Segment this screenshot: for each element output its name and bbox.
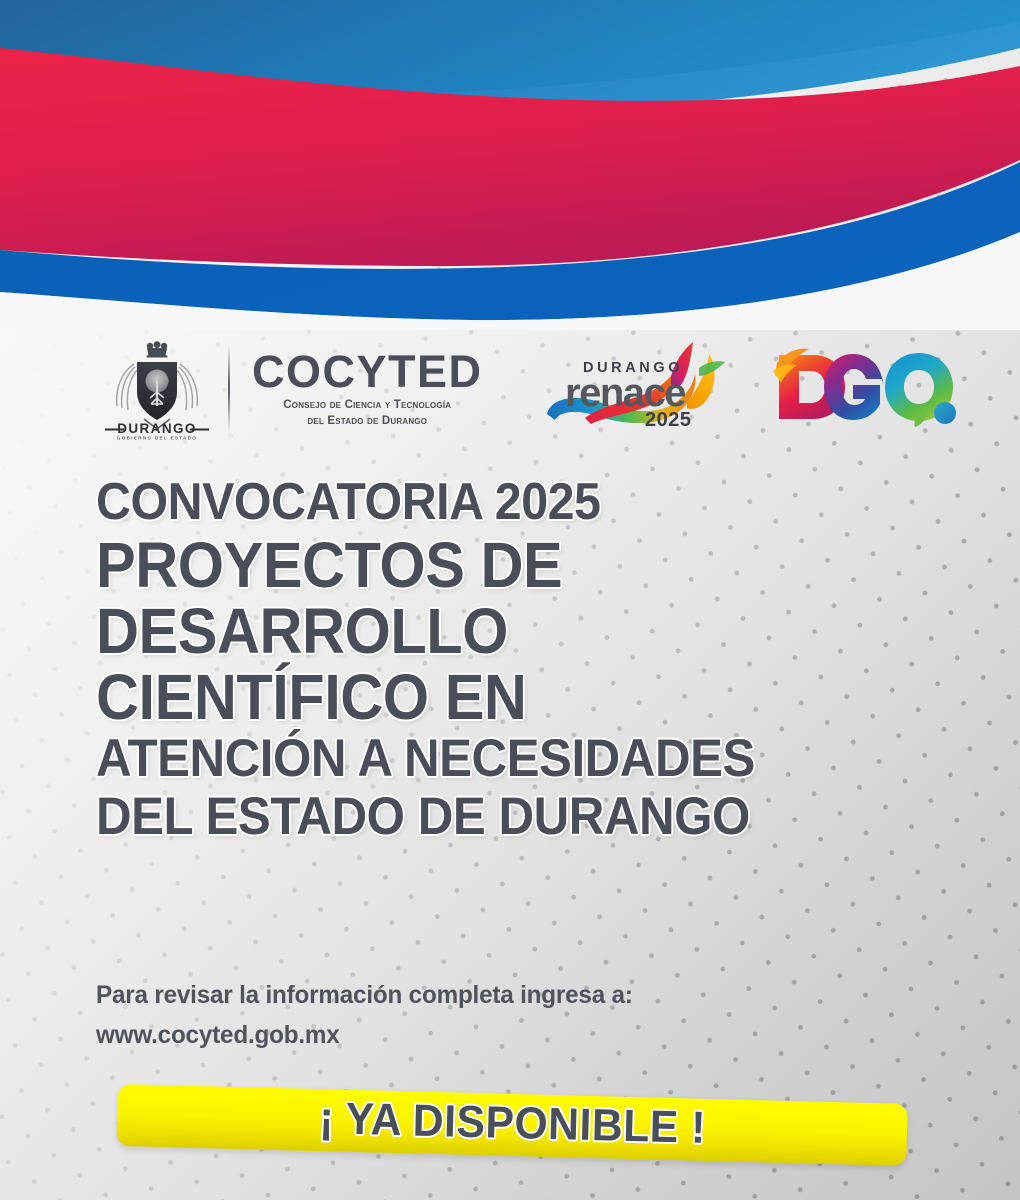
top-wave-banner — [0, 0, 1020, 330]
durango-wordmark: DURANGO — [117, 421, 197, 436]
renace-swoosh-orange — [687, 354, 715, 409]
cocyted-subtitle-line2: del Estado de Durango — [252, 414, 483, 430]
poster-canvas: DURANGO GOBIERNO DEL ESTADO COCYTED Cons… — [0, 0, 1020, 1200]
cocyted-subtitle-line1: Consejo de Ciencia y Tecnología — [252, 398, 483, 414]
dgo-period-dot — [934, 402, 956, 424]
headline-line-1: CONVOCATORIA 2025 — [96, 472, 896, 532]
website-url[interactable]: www.cocyted.gob.mx — [96, 1015, 833, 1055]
cta-banner[interactable]: ¡ YA DISPONIBLE ! — [0, 1070, 1020, 1200]
dgo-logo — [767, 345, 959, 431]
durango-tagline: GOBIERNO DEL ESTADO — [117, 436, 197, 441]
page-title: CONVOCATORIA 2025 PROYECTOS DE DESARROLL… — [96, 472, 956, 846]
logo-row: DURANGO GOBIERNO DEL ESTADO COCYTED Cons… — [98, 336, 928, 440]
renace-year: 2025 — [645, 409, 692, 431]
cocyted-logo: COCYTED Consejo de Ciencia y Tecnología … — [252, 347, 483, 430]
headline-line-6: DEL ESTADO DE DURANGO — [96, 788, 896, 846]
renace-logo: DURANGO renace 2025 — [541, 340, 727, 436]
headline-line-4: CIENTÍFICO EN — [96, 664, 896, 730]
cta-label: ¡ YA DISPONIBLE ! — [318, 1092, 706, 1154]
headline-line-5: ATENCIÓN A NECESIDADES — [96, 730, 896, 788]
headline-line-2: PROYECTOS DE — [96, 532, 896, 598]
info-block: Para revisar la información completa ing… — [96, 975, 856, 1055]
cocyted-wordmark: COCYTED — [252, 351, 483, 394]
cta-banner-text-wrap: ¡ YA DISPONIBLE ! — [116, 1084, 907, 1166]
logo-divider — [228, 345, 230, 431]
cocyted-subtitle: Consejo de Ciencia y Tecnología del Esta… — [252, 398, 483, 429]
info-instruction: Para revisar la información completa ing… — [96, 975, 833, 1015]
headline-line-3: DESARROLLO — [96, 598, 896, 664]
durango-crest-logo: DURANGO GOBIERNO DEL ESTADO — [98, 336, 216, 440]
dgo-letter-g — [824, 354, 883, 420]
crown-icon — [147, 341, 168, 357]
